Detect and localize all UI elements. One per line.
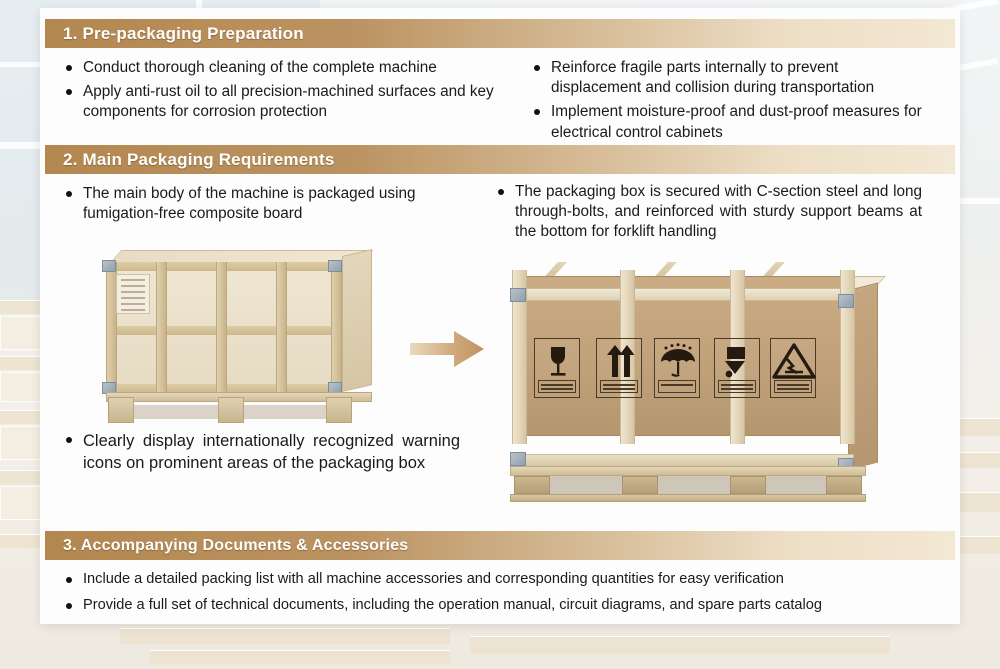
pallet-base <box>510 466 866 502</box>
section-3-bullets: Include a detailed packing list with all… <box>60 570 940 620</box>
section-3-title: 3. Accompanying Documents & Accessories <box>45 537 408 555</box>
section-2-left-bullets-lower: Clearly display internationally recogniz… <box>60 430 460 479</box>
section-2-title: 2. Main Packaging Requirements <box>45 150 334 170</box>
no-hand-truck-icon <box>714 338 760 398</box>
list-item: Apply anti-rust oil to all precision-mac… <box>60 82 510 122</box>
section-2-right-bullets: The packaging box is secured with C-sect… <box>492 182 922 247</box>
this-way-up-icon <box>596 338 642 398</box>
section-header-pre-packaging: 1. Pre-packaging Preparation <box>45 19 955 48</box>
hazard-triangle-icon <box>770 338 816 398</box>
transform-arrow-icon <box>408 326 486 372</box>
list-item: Clearly display internationally recogniz… <box>60 430 460 475</box>
placard-caption <box>538 380 576 393</box>
placard-caption <box>774 380 812 393</box>
section-header-main-packaging: 2. Main Packaging Requirements <box>45 145 955 174</box>
section-1-left-bullets: Conduct thorough cleaning of the complet… <box>60 58 510 127</box>
list-item: The packaging box is secured with C-sect… <box>492 182 922 243</box>
section-1-title: 1. Pre-packaging Preparation <box>45 24 304 44</box>
section-2-left-bullets: The main body of the machine is packaged… <box>60 184 460 228</box>
right-crate-illustration <box>508 276 880 504</box>
list-item: Provide a full set of technical document… <box>60 596 940 615</box>
left-crate-illustration <box>88 248 378 423</box>
placard-caption <box>718 380 756 393</box>
keep-dry-umbrella-icon <box>654 338 700 398</box>
placard-caption <box>600 380 638 393</box>
section-1-right-bullets: Reinforce fragile parts internally to pr… <box>528 58 932 147</box>
list-item: Conduct thorough cleaning of the complet… <box>60 58 510 78</box>
list-item: Include a detailed packing list with all… <box>60 570 940 589</box>
section-header-accompanying-documents: 3. Accompanying Documents & Accessories <box>45 531 955 560</box>
list-item: Reinforce fragile parts internally to pr… <box>528 58 932 98</box>
list-item: Implement moisture-proof and dust-proof … <box>528 102 932 142</box>
fragile-glass-icon <box>534 338 580 398</box>
list-item: The main body of the machine is packaged… <box>60 184 460 224</box>
placard-caption <box>658 380 696 393</box>
crate-shipping-label <box>116 274 150 314</box>
